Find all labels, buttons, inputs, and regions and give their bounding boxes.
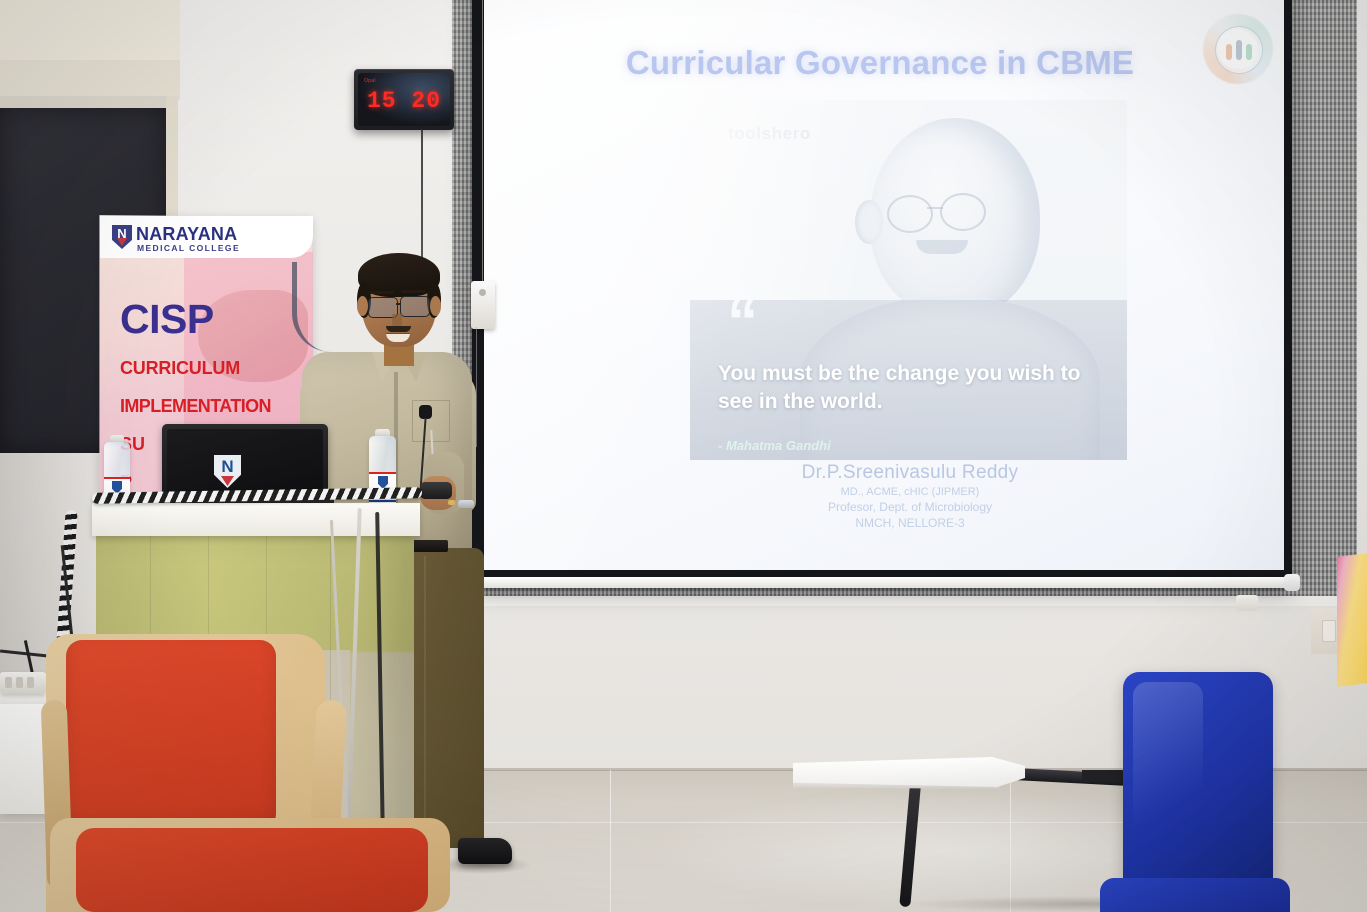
wall-conduit [1236,595,1258,611]
floor-tile-line [610,770,611,912]
blue-chair-highlight [1133,682,1203,872]
power-socket-icon [5,677,12,688]
presentation-clicker[interactable] [420,482,452,499]
clock-power-cable [421,129,423,265]
banner-college-name: NARAYANA [136,224,237,245]
hanging-cord [482,0,483,283]
ceiling-band-lower [0,60,180,100]
trouser-crease [424,556,426,836]
eyeglasses-bridge [396,303,401,305]
nmc-emblem-figure [1236,40,1242,60]
presenter-moustache [386,326,411,332]
credit-designation: Profesor, Dept. of Microbiology [740,500,1080,514]
wristwatch [458,500,474,508]
credit-institution: NMCH, NELLORE-3 [740,516,1080,530]
switch-indicator-icon [479,289,486,296]
credit-qualifications: MD., ACME, cHIC (JIPMER) [740,486,1080,498]
screen-weight-bar-cap [1284,574,1300,591]
eyeglasses-right-lens [400,296,430,317]
backdrop-bottom-rail [452,596,1357,606]
banner-acronym: CISP [120,296,214,343]
clock-brand-label: Opal [364,78,376,84]
ceiling-band [0,0,180,62]
nmc-emblem-figure [1246,44,1252,60]
credit-name: Dr.P.Sreenivasulu Reddy [740,462,1080,484]
power-socket-icon [27,677,34,688]
laptop-logo-letter: N [216,457,239,477]
finger-ring [448,500,455,505]
presenter-shoe [458,838,512,864]
banner-college-subtitle: MEDICAL COLLEGE [137,243,240,253]
quote-mark-icon: “ [727,298,758,348]
slide-title: Curricular Governance in CBME [520,44,1240,82]
lapel-microphone-icon [419,405,432,419]
presenter-eyebrow [401,290,426,293]
nmc-emblem-figure [1226,44,1232,60]
wall-poster-edge [1337,553,1367,687]
presenter-ear [430,296,441,316]
presenter-eyebrow [369,291,394,294]
lecture-hall-photo: toolshero “ You must be the change you w… [0,0,1367,912]
presenter-ear [357,296,368,316]
power-socket-icon [16,677,23,688]
screen-weight-bar[interactable] [478,577,1290,588]
banner-line-2: IMPLEMENTATION [120,396,271,417]
quote-text: You must be the change you wish to see i… [718,360,1098,416]
red-chair-backrest[interactable] [66,640,276,830]
red-chair-seat[interactable] [76,828,428,912]
clock-time-display: 15 20 [360,88,448,114]
quote-author: - Mahatma Gandhi [718,438,831,453]
podium-top-surface [92,503,420,536]
banner-line-1: CURRICULUM [120,358,240,379]
light-switch-rocker[interactable] [1322,620,1336,642]
presenter-credits: Dr.P.Sreenivasulu Reddy MD., ACME, cHIC … [740,462,1080,530]
blue-chair-seat[interactable] [1100,878,1290,912]
hanging-cord-lower [476,327,477,447]
projection-screen-surface[interactable]: toolshero “ You must be the change you w… [484,0,1284,570]
